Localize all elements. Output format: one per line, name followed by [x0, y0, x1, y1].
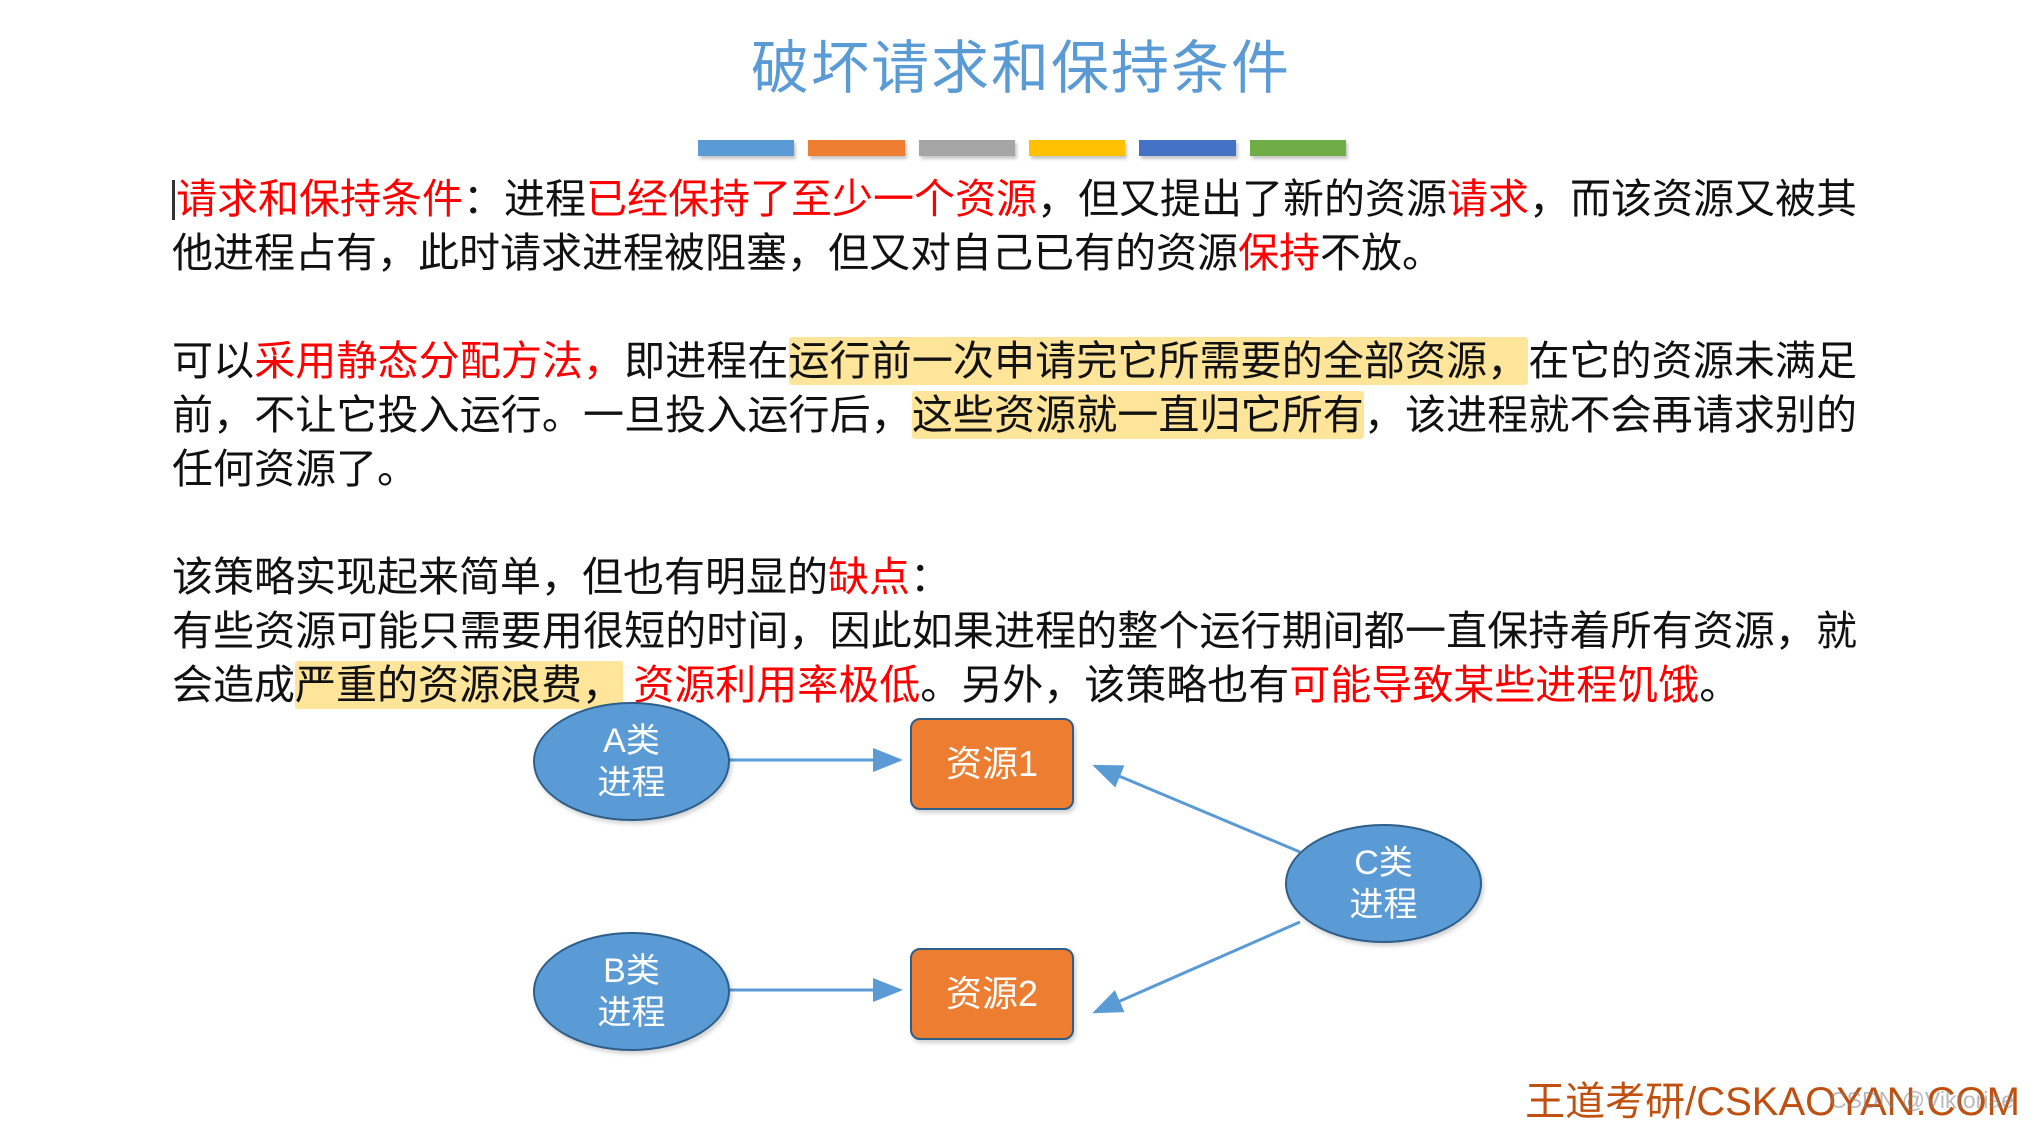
paragraph-condition: 请求和保持条件：进程已经保持了至少一个资源，但又提出了新的资源请求，而该资源又被… [172, 172, 1857, 280]
paragraph-edge-marker [172, 180, 175, 220]
paragraph-drawback-intro-run-0: 该策略实现起来简单，但也有明显的 [172, 554, 828, 600]
paragraph-spacer [172, 496, 1857, 550]
bar-green [1250, 140, 1346, 156]
bar-blue [698, 140, 794, 156]
paragraph-condition-run-4: 请求 [1447, 176, 1529, 222]
slide-body-text: 请求和保持条件：进程已经保持了至少一个资源，但又提出了新的资源请求，而该资源又被… [172, 172, 1857, 712]
paragraph-drawback-intro: 该策略实现起来简单，但也有明显的缺点： [172, 550, 1857, 604]
paragraph-spacer [172, 280, 1857, 334]
paragraph-condition-run-0: 请求和保持条件 [176, 176, 463, 222]
paragraph-condition-run-7: 不放。 [1320, 230, 1443, 276]
paragraph-drawback-intro-run-1: 缺点 [828, 554, 910, 600]
resource-allocation-graph: A类进程 B类进程 C类进程 资源1 资源2 [0, 660, 2042, 1080]
node-resource-2-label: 资源2 [946, 973, 1038, 1015]
node-process-c-label: C类进程 [1341, 842, 1427, 926]
paragraph-static-allocation-run-0: 可以 [172, 338, 254, 384]
node-process-a[interactable]: A类进程 [533, 702, 730, 821]
paragraph-condition-run-6: 保持 [1238, 230, 1320, 276]
paragraph-static-allocation-run-5: 这些资源就一直归它所有 [912, 391, 1364, 439]
paragraph-drawback-intro-run-2: ： [910, 554, 951, 600]
page-title: 破坏请求和保持条件 [0, 34, 2042, 104]
node-process-c[interactable]: C类进程 [1285, 824, 1482, 943]
node-resource-2[interactable]: 资源2 [910, 948, 1074, 1040]
node-process-b[interactable]: B类进程 [533, 932, 730, 1051]
title-accent-bar-row [698, 140, 1346, 156]
bar-dark-blue [1139, 140, 1235, 156]
bar-gray [919, 140, 1015, 156]
paragraph-static-allocation-run-1: 采用静态分配方法， [254, 338, 624, 384]
paragraph-static-allocation-run-2: 即进程在 [624, 338, 788, 384]
footer-brand: 王道考研/CSKAOYAN.COM [1525, 1078, 2020, 1126]
node-process-b-label: B类进程 [589, 950, 675, 1034]
paragraph-static-allocation: 可以采用静态分配方法，即进程在运行前一次申请完它所需要的全部资源，在它的资源未满… [172, 334, 1857, 496]
paragraph-condition-run-2: 已经保持了至少一个资源 [586, 176, 1037, 222]
paragraph-condition-run-1: ：进程 [463, 176, 586, 222]
bar-yellow [1029, 140, 1125, 156]
edge-c-to-resource2 [1095, 922, 1300, 1012]
node-resource-1[interactable]: 资源1 [910, 718, 1074, 810]
paragraph-condition-run-3: ，但又提出了新的资源 [1037, 176, 1447, 222]
node-resource-1-label: 资源1 [946, 743, 1038, 785]
node-process-a-label: A类进程 [589, 720, 675, 804]
bar-orange [808, 140, 904, 156]
edge-c-to-resource1 [1095, 766, 1300, 852]
paragraph-static-allocation-run-3: 运行前一次申请完它所需要的全部资源， [789, 337, 1529, 385]
